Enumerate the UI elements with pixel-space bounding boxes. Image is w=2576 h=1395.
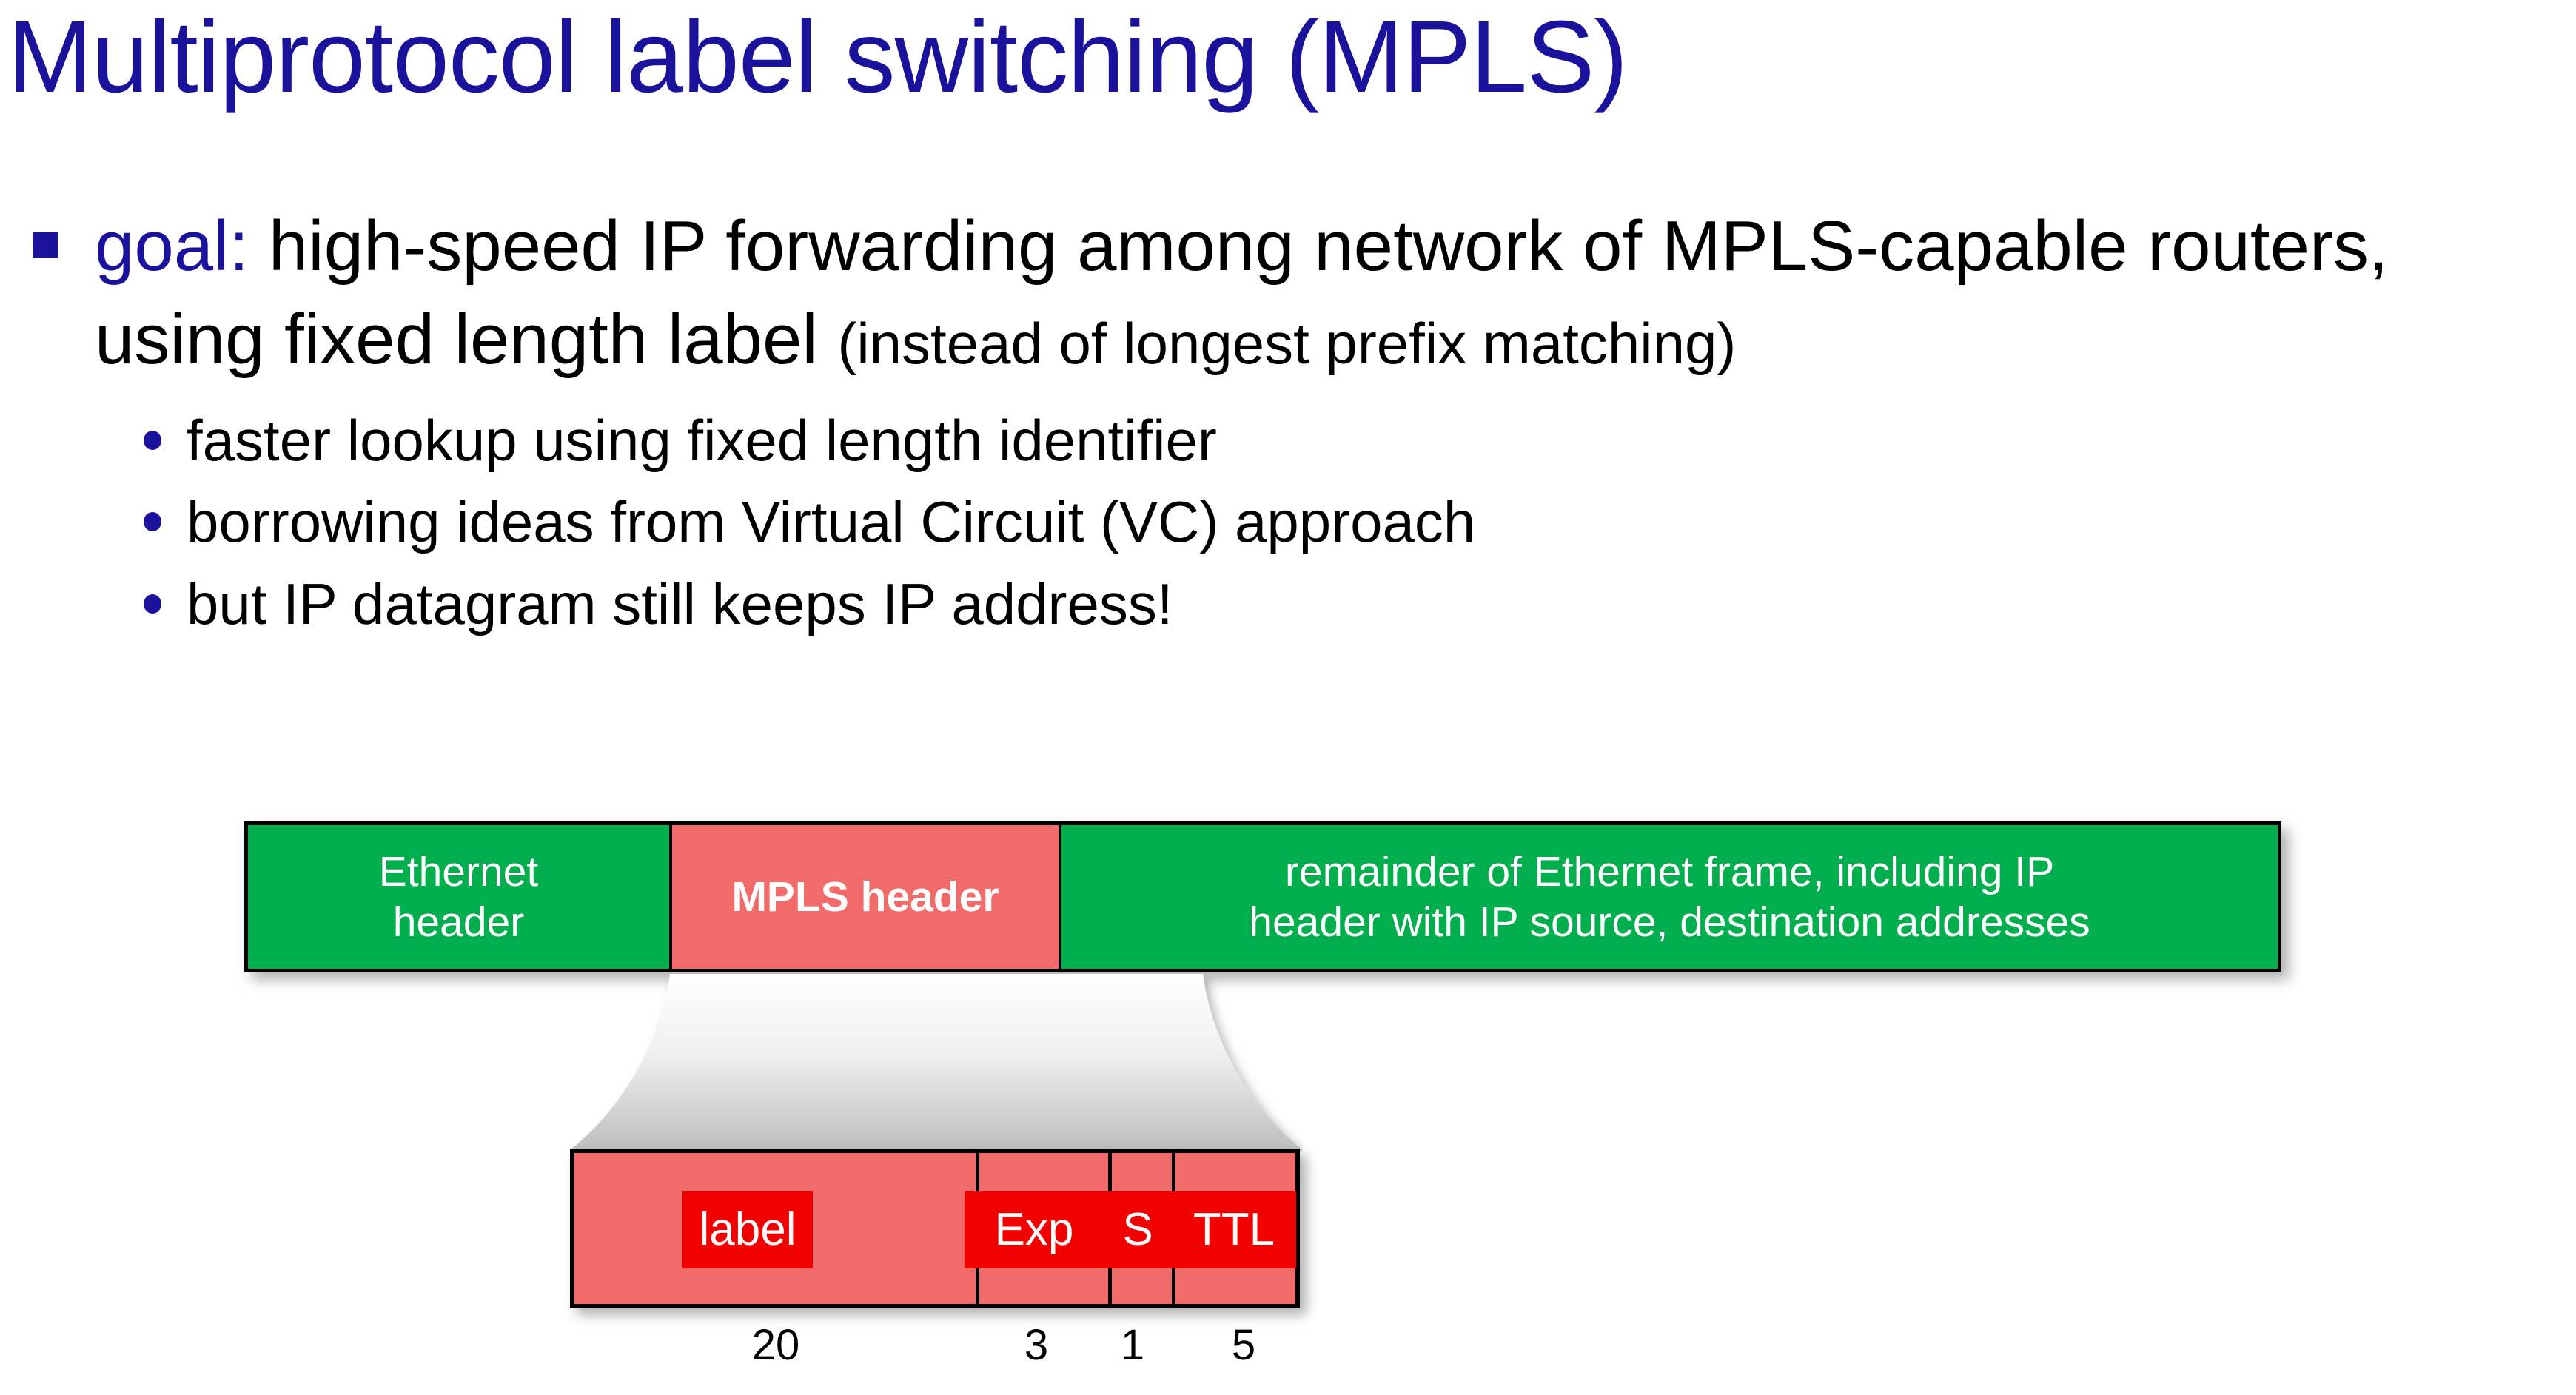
field-tag-s: S	[1104, 1191, 1172, 1268]
sub-bullet-label: but IP datagram still keeps IP address!	[187, 571, 1173, 636]
bullet-list: goal: high-speed IP forwarding among net…	[0, 200, 2576, 648]
round-bullet-icon	[144, 512, 161, 531]
field-tag-label: label	[682, 1191, 813, 1268]
zoom-connector-shape	[570, 974, 1303, 1152]
frame-cell-mpls-header: MPLS header	[669, 821, 1061, 972]
bit-width-ttl: 5	[1217, 1324, 1270, 1367]
remainder-line2: header with IP source, destination addre…	[1249, 897, 2090, 947]
bullet-goal-keyword: goal:	[95, 206, 249, 286]
sub-bullet-list: faster lookup using fixed length identif…	[0, 403, 2576, 643]
frame-cell-ethernet-header: Ethernet header	[244, 821, 672, 972]
remainder-line1: remainder of Ethernet frame, including I…	[1249, 847, 2090, 897]
mpls-header-label: MPLS header	[731, 872, 999, 922]
ethernet-frame-row: Ethernet header MPLS header remainder of…	[244, 821, 2281, 972]
round-bullet-icon	[144, 431, 161, 450]
ethernet-header-line2: header	[379, 897, 538, 947]
round-bullet-icon	[144, 594, 161, 614]
connector-trapezoid	[570, 974, 1303, 1150]
page-title: Multiprotocol label switching (MPLS)	[7, 0, 2524, 118]
bit-width-exp: 3	[1010, 1324, 1063, 1367]
field-tag-ttl: TTL	[1172, 1191, 1296, 1268]
sub-bullet-label: borrowing ideas from Virtual Circuit (VC…	[187, 489, 1475, 554]
sub-bullet-faster-lookup: faster lookup using fixed length identif…	[141, 403, 2576, 479]
bit-width-label: 20	[746, 1324, 805, 1367]
bullet-goal-paren: (instead of longest prefix matching)	[837, 311, 1736, 376]
frame-cell-remainder: remainder of Ethernet frame, including I…	[1059, 821, 2281, 972]
sub-bullet-label: faster lookup using fixed length identif…	[187, 408, 1217, 473]
bullet-goal: goal: high-speed IP forwarding among net…	[0, 200, 2465, 386]
field-tag-exp: Exp	[965, 1191, 1104, 1268]
square-bullet-icon	[33, 232, 58, 258]
bit-width-s: 1	[1106, 1324, 1159, 1367]
sub-bullet-ip-address: but IP datagram still keeps IP address!	[141, 566, 2576, 642]
mpls-header-detail-box: label Exp S TTL	[570, 1149, 1300, 1308]
ethernet-header-line1: Ethernet	[379, 847, 538, 897]
sub-bullet-borrowing-ideas: borrowing ideas from Virtual Circuit (VC…	[141, 484, 2576, 560]
